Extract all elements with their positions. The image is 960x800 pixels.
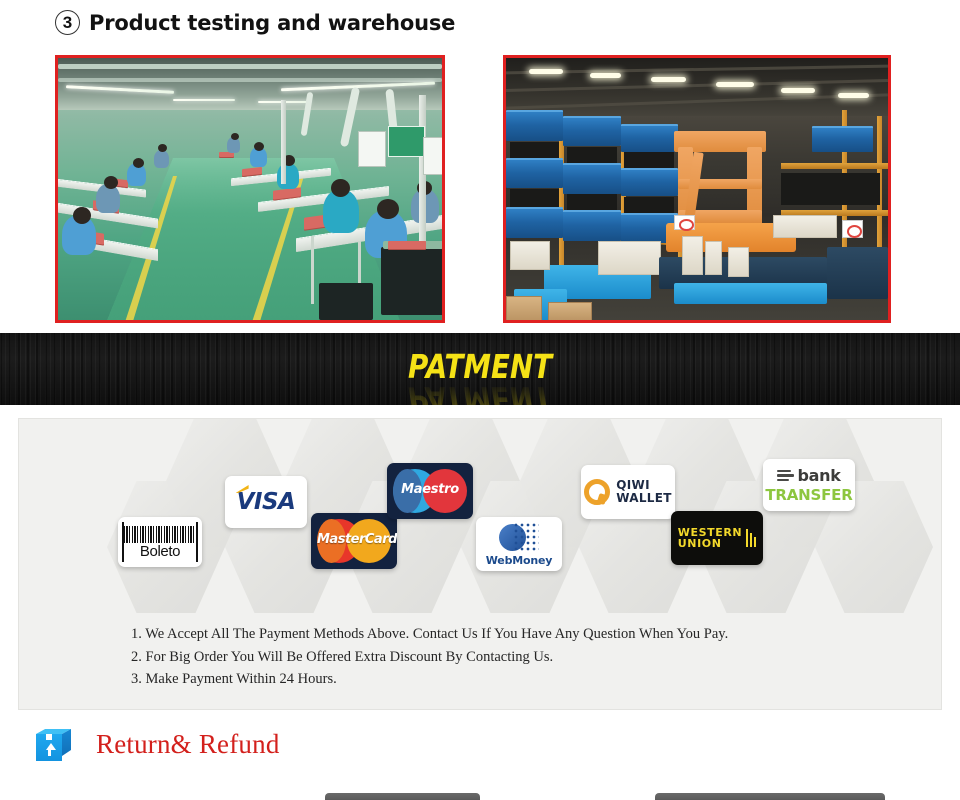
bottom-bar-right [655,793,885,800]
barcode-icon [124,526,196,543]
payment-term-3: 3. Make Payment Within 24 Hours. [131,669,891,690]
payment-banner: PATMENT PATMENT [0,333,960,405]
webmoney-icon [499,522,539,552]
payment-method-mastercard[interactable]: MasterCard [311,513,397,569]
payment-term-2: 2. For Big Order You Will Be Offered Ext… [131,647,891,668]
payment-banner-title-reflection: PATMENT [77,379,883,405]
package-box-icon [36,726,72,762]
warehouse-storage-photo [503,55,891,323]
payment-method-maestro[interactable]: Maestro [387,463,473,519]
western-union-icon: WESTERN UNION [678,527,742,549]
bank-transfer-icon [777,470,794,482]
visa-icon: VISA [237,489,296,515]
bottom-bar-left [325,793,480,800]
section-number-badge: 3 [55,10,80,35]
return-refund-section: Return& Refund [0,718,960,770]
boleto-bar-left [122,522,124,562]
payment-method-label: WebMoney [486,554,552,567]
factory-assembly-line-photo [55,55,445,323]
payment-method-qiwi[interactable]: QIWI WALLET [581,465,675,519]
payment-method-western-union[interactable]: WESTERN UNION [671,511,763,565]
page-title: Product testing and warehouse [89,11,455,35]
payment-method-label: Maestro [393,482,467,497]
photo-row [0,48,960,328]
payment-method-label-2: UNION [678,538,742,549]
payment-method-label-2: TRANSFER [765,486,852,504]
payment-method-label: bank [797,466,840,485]
maestro-icon: Maestro [393,469,467,513]
section-header: 3 Product testing and warehouse [0,0,960,45]
payment-method-label: VISA [237,489,296,515]
payment-method-label: Boleto [140,544,180,559]
payment-methods-panel: Boleto VISA MasterCard Maestro WebM [18,418,942,710]
payment-method-visa[interactable]: VISA [225,476,307,528]
qiwi-wallet-icon [584,479,610,505]
western-union-bars-icon [746,529,756,547]
payment-method-label-2: WALLET [616,492,671,505]
boleto-bar-right [196,522,198,562]
payment-method-boleto[interactable]: Boleto [118,517,202,567]
payment-term-1: 1. We Accept All The Payment Methods Abo… [131,624,891,645]
payment-method-label: MasterCard [317,532,391,547]
mastercard-icon: MasterCard [317,519,391,563]
return-refund-title: Return& Refund [96,729,280,760]
payment-method-bank-transfer[interactable]: bank TRANSFER [763,459,855,511]
payment-terms-list: 1. We Accept All The Payment Methods Abo… [131,624,891,692]
payment-method-webmoney[interactable]: WebMoney [476,517,562,571]
